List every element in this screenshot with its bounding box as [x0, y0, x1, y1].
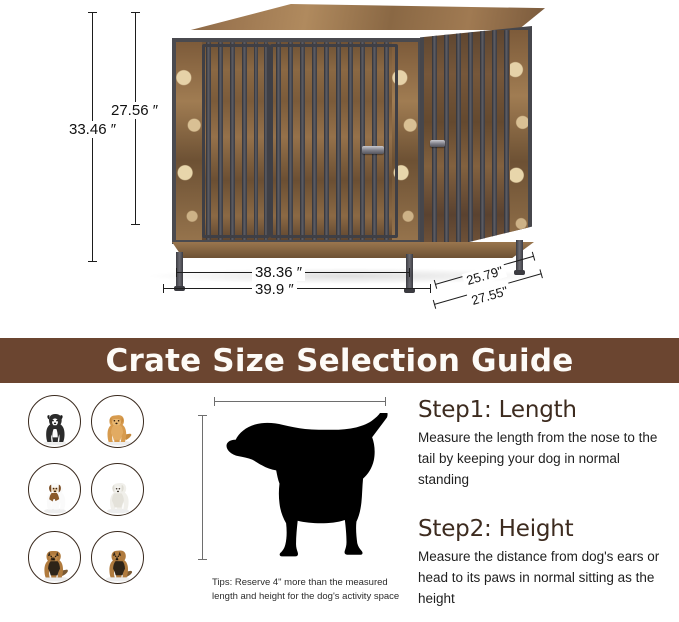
height-measure-cap-top: [198, 415, 207, 416]
length-measure-line: [214, 401, 386, 402]
tips-text: Tips: Reserve 4ʺ more than the measured …: [212, 576, 404, 604]
step-2-block: Step2: Height Measure the distance from …: [418, 516, 670, 609]
measurement-diagram: Tips: Reserve 4ʺ more than the measured …: [196, 391, 404, 616]
dog-photo-german-shepherd-1: [28, 531, 81, 584]
crate-side-face: [420, 26, 532, 254]
crate-base-panel: [172, 242, 534, 258]
banner-title: Crate Size Selection Guide: [106, 343, 574, 379]
product-image-section: 33.46 ″ 27.56 ″ 38.36 ″ 39.9 ″ 25.79": [0, 0, 679, 338]
dimension-label-width-outer: 39.9 ″: [252, 281, 297, 298]
dog-photo-white-labrador: [91, 463, 144, 516]
dog-crate-product-image: [160, 4, 545, 284]
step-1-block: Step1: Length Measure the length from th…: [418, 397, 670, 490]
crate-front-bars: [176, 42, 418, 240]
length-measure-cap-right: [385, 397, 386, 406]
crate-body: [172, 26, 532, 244]
height-measure-line: [202, 415, 203, 560]
step-2-description: Measure the distance from dog's ears or …: [418, 547, 670, 609]
dimension-label-width-inner: 38.36 ″: [252, 264, 305, 281]
step-1-title: Step1: Length: [418, 397, 670, 423]
dog-silhouette: [210, 413, 392, 563]
dog-photo-beagle: [28, 463, 81, 516]
height-measure-cap-bottom: [198, 559, 207, 560]
section-banner: Crate Size Selection Guide: [0, 338, 679, 383]
step-2-title: Step2: Height: [418, 516, 670, 542]
dog-photo-golden-retriever: [91, 395, 144, 448]
dog-breed-photo-grid: [28, 395, 144, 594]
dog-photo-german-shepherd-2: [91, 531, 144, 584]
crate-door-latch-side: [430, 140, 445, 147]
dimension-line-width-outer: [163, 288, 431, 289]
dimension-label-height-outer: 33.46 ″: [66, 121, 119, 138]
dimension-label-height-inner: 27.56 ″: [108, 102, 161, 119]
crate-door-latch-front: [362, 146, 384, 154]
crate-front-face: [172, 38, 422, 244]
length-measure-cap-left: [214, 397, 215, 406]
infographic-page: 33.46 ″ 27.56 ″ 38.36 ″ 39.9 ″ 25.79": [0, 0, 679, 622]
dog-photo-border-collie: [28, 395, 81, 448]
crate-size-guide-section: Tips: Reserve 4ʺ more than the measured …: [0, 383, 679, 622]
step-1-description: Measure the length from the nose to the …: [418, 428, 670, 490]
